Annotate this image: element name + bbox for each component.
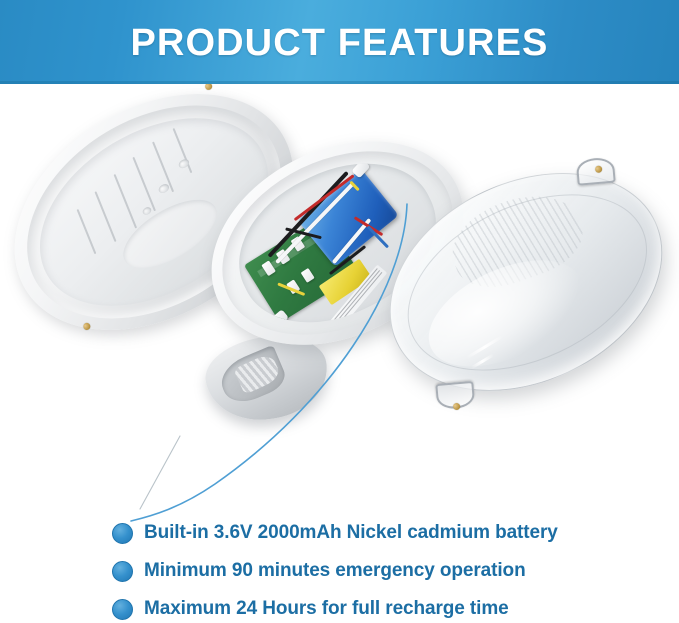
bullet-dot-icon xyxy=(112,523,133,544)
bullet-dot-icon xyxy=(112,561,133,582)
feature-item: Minimum 90 minutes emergency operation xyxy=(112,552,652,590)
housing-screw xyxy=(204,84,214,91)
feature-item: Built-in 3.6V 2000mAh Nickel cadmium bat… xyxy=(112,514,652,552)
feature-label: Built-in 3.6V 2000mAh Nickel cadmium bat… xyxy=(144,522,558,544)
feature-item: Maximum 24 Hours for full recharge time xyxy=(112,590,652,623)
feature-label: Minimum 90 minutes emergency operation xyxy=(144,560,526,582)
page-title: PRODUCT FEATURES xyxy=(0,21,679,65)
product-photo xyxy=(0,84,679,504)
housing-pad xyxy=(113,187,227,282)
bullet-dot-icon xyxy=(112,599,133,620)
product-features-page: PRODUCT FEATURES xyxy=(0,0,679,623)
header-banner: PRODUCT FEATURES xyxy=(0,0,679,84)
features-list: Built-in 3.6V 2000mAh Nickel cadmium bat… xyxy=(112,514,652,623)
feature-label: Maximum 24 Hours for full recharge time xyxy=(144,598,509,620)
